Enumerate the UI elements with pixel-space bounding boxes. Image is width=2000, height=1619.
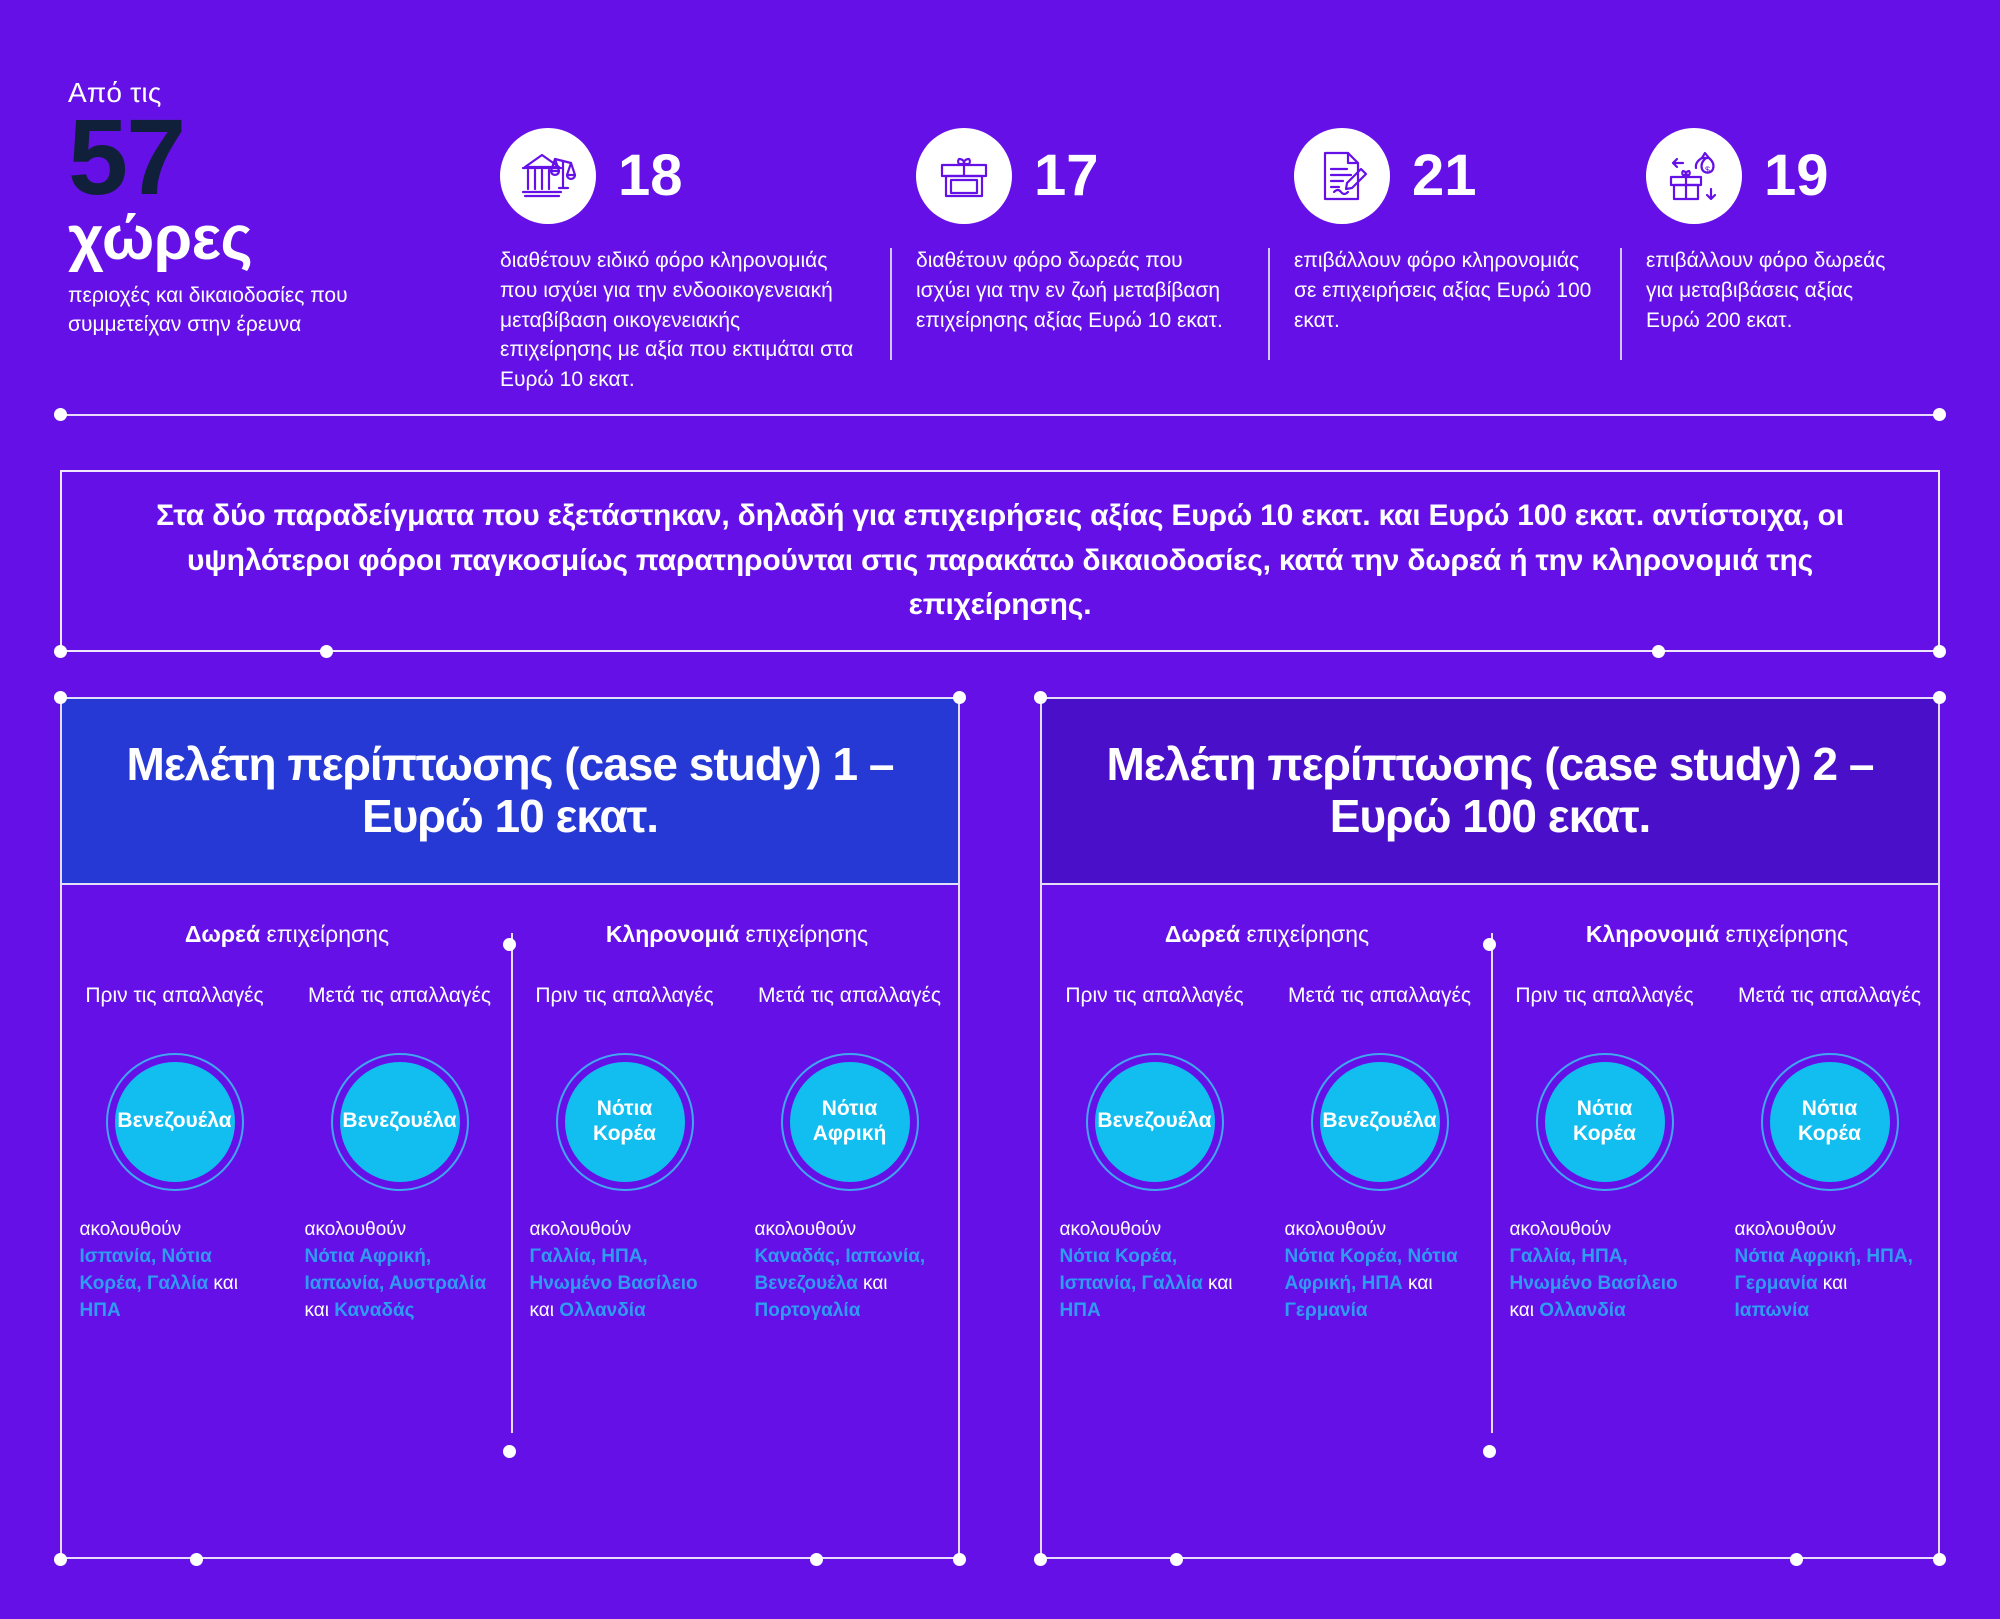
follow-lead: ακολουθούν [755, 1219, 857, 1240]
follow-conj: και [858, 1273, 888, 1294]
case-1-donation-before: Πριν τις απαλλαγές Βενεζουέλα ακολουθούν… [62, 983, 287, 1325]
case-2-inheritance-title-rest: επιχείρησης [1719, 921, 1848, 947]
statistics-row: 18 διαθέτουν ειδικό φόρο κληρονομιάς που… [500, 128, 1930, 398]
follow-countries: Νότια Αφρική, Ιαπωνία, Αυστραλία [305, 1246, 487, 1294]
stat-description-4: επιβάλλουν φόρο δωρεάς για μεταβιβάσεις … [1646, 246, 1926, 335]
case-2-donation-title-rest: επιχείρησης [1240, 921, 1369, 947]
case-2-dot-bottom-left [1034, 1553, 1047, 1566]
case-1-inheritance-before-country: Νότια Κορέα [566, 1097, 684, 1147]
stat-item-3: 21 επιβάλλουν φόρο κληρονομιάς σε επιχει… [1268, 128, 1620, 398]
case-1-inheritance-title: Κληρονομιά επιχείρησης [512, 921, 962, 949]
case-study-1-title: Μελέτη περίπτωσης (case study) 1 – Ευρώ … [95, 739, 925, 842]
case-2-inheritance-after-label: Μετά τις απαλλαγές [1738, 983, 1921, 1041]
case-2-donation-after: Μετά τις απαλλαγές Βενεζουέλα ακολουθούν… [1267, 983, 1492, 1325]
case-2-donation-before-country: Βενεζουέλα [1096, 1109, 1214, 1134]
hero-word: χώρες [68, 208, 398, 270]
case-study-2: Μελέτη περίπτωσης (case study) 2 – Ευρώ … [1040, 697, 1940, 1559]
follow-lead: ακολουθούν [1735, 1219, 1837, 1240]
courthouse-scales-icon [500, 128, 596, 224]
stat-head-1: 18 [500, 128, 890, 224]
case-1-dot-bottom-right [953, 1553, 966, 1566]
signed-document-icon [1294, 128, 1390, 224]
case-1-donation-after-label: Μετά τις απαλλαγές [308, 983, 491, 1041]
case-1-donation-title-strong: Δωρεά [185, 921, 260, 947]
follow-countries: Καναδάς, Ιαπωνία, Βενεζουέλα [755, 1246, 926, 1294]
case-2-donation-title-strong: Δωρεά [1165, 921, 1240, 947]
case-1-inheritance-before-bubble: Νότια Κορέα [556, 1053, 694, 1191]
follow-conj: και [305, 1300, 335, 1321]
stat-divider-3 [1268, 248, 1270, 360]
case-1-donation-title: Δωρεά επιχείρησης [62, 921, 512, 949]
case-2-inheritance-before-follow: ακολουθούν Γαλλία, ΗΠΑ, Ηνωμένο Βασίλειο… [1510, 1217, 1700, 1325]
case-1-inheritance-after: Μετά τις απαλλαγές Νότια Αφρική ακολουθο… [737, 983, 962, 1325]
follow-conj: και [1403, 1273, 1433, 1294]
follow-lead: ακολουθούν [1285, 1219, 1387, 1240]
case-1-dot-top-left [54, 691, 67, 704]
stat-value-4: 19 [1764, 147, 1829, 205]
statement-dot-right [1933, 645, 1946, 658]
follow-countries: Γαλλία, ΗΠΑ, Ηνωμένο Βασίλειο [530, 1246, 698, 1294]
case-2-dot-top-right [1933, 691, 1946, 704]
follow-last-country: Καναδάς [334, 1300, 414, 1321]
follow-last-country: Ιαπωνία [1735, 1300, 1810, 1321]
rail-dot-right [1933, 408, 1946, 421]
case-2-dot-bottom-mid [1170, 1553, 1183, 1566]
case-2-dot-bottom-mid2 [1790, 1553, 1803, 1566]
stat-item-1: 18 διαθέτουν ειδικό φόρο κληρονομιάς που… [500, 128, 890, 398]
follow-last-country: Ολλανδία [559, 1300, 645, 1321]
stat-head-3: 21 [1294, 128, 1620, 224]
stat-item-2: 17 διαθέτουν φόρο δωρεάς που ισχύει για … [890, 128, 1268, 398]
case-2-inheritance-after: Μετά τις απαλλαγές Νότια Κορέα ακολουθού… [1717, 983, 1942, 1325]
statement-dot-mid-right [1652, 645, 1665, 658]
case-1-dot-top-right [953, 691, 966, 704]
hero-subtitle: περιοχές και δικαιοδοσίες που συμμετείχα… [68, 282, 368, 339]
statement-text: Στα δύο παραδείγματα που εξετάστηκαν, δη… [120, 494, 1880, 627]
case-2-donation-title: Δωρεά επιχείρησης [1042, 921, 1492, 949]
top-statistics-band: Από τις 57 χώρες περιοχές και δικαιοδοσί… [0, 0, 2000, 420]
case-2-dot-top-left [1034, 691, 1047, 704]
follow-conj: και [1818, 1273, 1848, 1294]
case-1-inheritance-before-label: Πριν τις απαλλαγές [535, 983, 713, 1041]
case-2-donation-after-label: Μετά τις απαλλαγές [1288, 983, 1471, 1041]
case-1-donation-after-follow: ακολουθούν Νότια Αφρική, Ιαπωνία, Αυστρα… [305, 1217, 495, 1325]
case-1-inheritance-after-country: Νότια Αφρική [791, 1097, 909, 1147]
case-2-column-donation: Δωρεά επιχείρησης Πριν τις απαλλαγές Βεν… [1042, 885, 1492, 1557]
stat-description-3: επιβάλλουν φόρο κληρονομιάς σε επιχειρήσ… [1294, 246, 1614, 335]
case-study-1: Μελέτη περίπτωσης (case study) 1 – Ευρώ … [60, 697, 960, 1559]
case-2-donation-before: Πριν τις απαλλαγές Βενεζουέλα ακολουθούν… [1042, 983, 1267, 1325]
case-2-inheritance-before-label: Πριν τις απαλλαγές [1515, 983, 1693, 1041]
case-1-donation-title-rest: επιχείρησης [260, 921, 389, 947]
follow-conj: και [1203, 1273, 1233, 1294]
case-2-divider-dot-top [1483, 938, 1496, 951]
case-1-donation-before-bubble: Βενεζουέλα [106, 1053, 244, 1191]
case-1-inheritance-before: Πριν τις απαλλαγές Νότια Κορέα ακολουθού… [512, 983, 737, 1325]
stat-item-4: $ 19 επιβάλλουν φόρο δωρεάς για μεταβιβά… [1620, 128, 1930, 398]
case-1-dot-bottom-mid [190, 1553, 203, 1566]
case-2-donation-before-bubble: Βενεζουέλα [1086, 1053, 1224, 1191]
case-2-divider-dot-bottom [1483, 1445, 1496, 1458]
hero-block: Από τις 57 χώρες περιοχές και δικαιοδοσί… [68, 78, 398, 339]
case-1-divider-dot-bottom [503, 1445, 516, 1458]
gift-box-icon [916, 128, 1012, 224]
stat-value-3: 21 [1412, 147, 1477, 205]
case-1-divider-dot-top [503, 938, 516, 951]
case-1-inheritance-after-bubble: Νότια Αφρική [781, 1053, 919, 1191]
case-2-donation-after-country: Βενεζουέλα [1321, 1109, 1439, 1134]
follow-lead: ακολουθούν [305, 1219, 407, 1240]
case-2-inheritance-after-country: Νότια Κορέα [1771, 1097, 1889, 1147]
stat-divider-2 [890, 248, 892, 360]
case-1-donation-after-country: Βενεζουέλα [341, 1109, 459, 1134]
stat-value-1: 18 [618, 147, 683, 205]
case-1-donation-after-bubble: Βενεζουέλα [331, 1053, 469, 1191]
case-2-inheritance-before-bubble: Νότια Κορέα [1536, 1053, 1674, 1191]
case-1-inheritance-title-rest: επιχείρησης [739, 921, 868, 947]
top-connector-rail [60, 414, 1940, 416]
hero-number: 57 [68, 107, 398, 206]
follow-last-country: Ολλανδία [1539, 1300, 1625, 1321]
case-1-donation-before-follow: ακολουθούν Ισπανία, Νότια Κορέα, Γαλλία … [80, 1217, 270, 1325]
case-1-inheritance-after-follow: ακολουθούν Καναδάς, Ιαπωνία, Βενεζουέλα … [755, 1217, 945, 1325]
follow-lead: ακολουθούν [1510, 1219, 1612, 1240]
follow-countries: Γαλλία, ΗΠΑ, Ηνωμένο Βασίλειο [1510, 1246, 1678, 1294]
follow-last-country: ΗΠΑ [80, 1300, 121, 1321]
statement-dot-mid-left [320, 645, 333, 658]
case-2-inheritance-after-bubble: Νότια Κορέα [1761, 1053, 1899, 1191]
case-2-inheritance-before-country: Νότια Κορέα [1546, 1097, 1664, 1147]
infographic-page: Από τις 57 χώρες περιοχές και δικαιοδοσί… [0, 0, 2000, 1619]
statement-dot-left [54, 645, 67, 658]
case-1-column-inheritance: Κληρονομιά επιχείρησης Πριν τις απαλλαγέ… [512, 885, 962, 1557]
stat-divider-4 [1620, 248, 1622, 360]
case-1-inheritance-before-follow: ακολουθούν Γαλλία, ΗΠΑ, Ηνωμένο Βασίλειο… [530, 1217, 720, 1325]
follow-conj: και [208, 1273, 238, 1294]
follow-countries: Νότια Κορέα, Ισπανία, Γαλλία [1060, 1246, 1203, 1294]
stat-head-2: 17 [916, 128, 1268, 224]
statement-box: Στα δύο παραδείγματα που εξετάστηκαν, δη… [60, 470, 1940, 652]
case-study-2-title: Μελέτη περίπτωσης (case study) 2 – Ευρώ … [1075, 739, 1905, 842]
rail-dot-left [54, 408, 67, 421]
follow-last-country: Πορτογαλία [755, 1300, 861, 1321]
case-1-column-donation: Δωρεά επιχείρησης Πριν τις απαλλαγές Βεν… [62, 885, 512, 1557]
stat-head-4: $ 19 [1646, 128, 1930, 224]
case-1-inheritance-after-label: Μετά τις απαλλαγές [758, 983, 941, 1041]
case-1-donation-before-country: Βενεζουέλα [116, 1109, 234, 1134]
case-2-inheritance-before: Πριν τις απαλλαγές Νότια Κορέα ακολουθού… [1492, 983, 1717, 1325]
stat-description-1: διαθέτουν ειδικό φόρο κληρονομιάς που ισ… [500, 246, 870, 395]
follow-lead: ακολουθούν [80, 1219, 182, 1240]
follow-lead: ακολουθούν [530, 1219, 632, 1240]
case-2-donation-after-follow: ακολουθούν Νότια Κορέα, Νότια Αφρική, ΗΠ… [1285, 1217, 1475, 1325]
case-study-2-header: Μελέτη περίπτωσης (case study) 2 – Ευρώ … [1040, 697, 1940, 885]
stat-description-2: διαθέτουν φόρο δωρεάς που ισχύει για την… [916, 246, 1256, 335]
follow-countries: Ισπανία, Νότια Κορέα, Γαλλία [80, 1246, 212, 1294]
case-2-inheritance-after-follow: ακολουθούν Νότια Αφρική, ΗΠΑ, Γερμανία κ… [1735, 1217, 1925, 1325]
stat-value-2: 17 [1034, 147, 1099, 205]
case-study-1-header: Μελέτη περίπτωσης (case study) 1 – Ευρώ … [60, 697, 960, 885]
case-2-column-inheritance: Κληρονομιά επιχείρησης Πριν τις απαλλαγέ… [1492, 885, 1942, 1557]
case-1-donation-before-label: Πριν τις απαλλαγές [85, 983, 263, 1041]
follow-last-country: ΗΠΑ [1060, 1300, 1101, 1321]
case-1-dot-bottom-left [54, 1553, 67, 1566]
follow-lead: ακολουθούν [1060, 1219, 1162, 1240]
case-2-inheritance-title-strong: Κληρονομιά [1586, 921, 1719, 947]
gift-money-transfer-icon: $ [1646, 128, 1742, 224]
case-2-donation-before-label: Πριν τις απαλλαγές [1065, 983, 1243, 1041]
case-2-donation-before-follow: ακολουθούν Νότια Κορέα, Ισπανία, Γαλλία … [1060, 1217, 1250, 1325]
follow-conj: και [530, 1300, 560, 1321]
case-2-dot-bottom-right [1933, 1553, 1946, 1566]
case-1-donation-after: Μετά τις απαλλαγές Βενεζουέλα ακολουθούν… [287, 983, 512, 1325]
follow-last-country: Γερμανία [1285, 1300, 1368, 1321]
case-2-inheritance-title: Κληρονομιά επιχείρησης [1492, 921, 1942, 949]
case-1-inheritance-title-strong: Κληρονομιά [606, 921, 739, 947]
case-2-donation-after-bubble: Βενεζουέλα [1311, 1053, 1449, 1191]
case-1-dot-bottom-mid2 [810, 1553, 823, 1566]
follow-conj: και [1510, 1300, 1540, 1321]
svg-text:$: $ [1705, 165, 1710, 175]
